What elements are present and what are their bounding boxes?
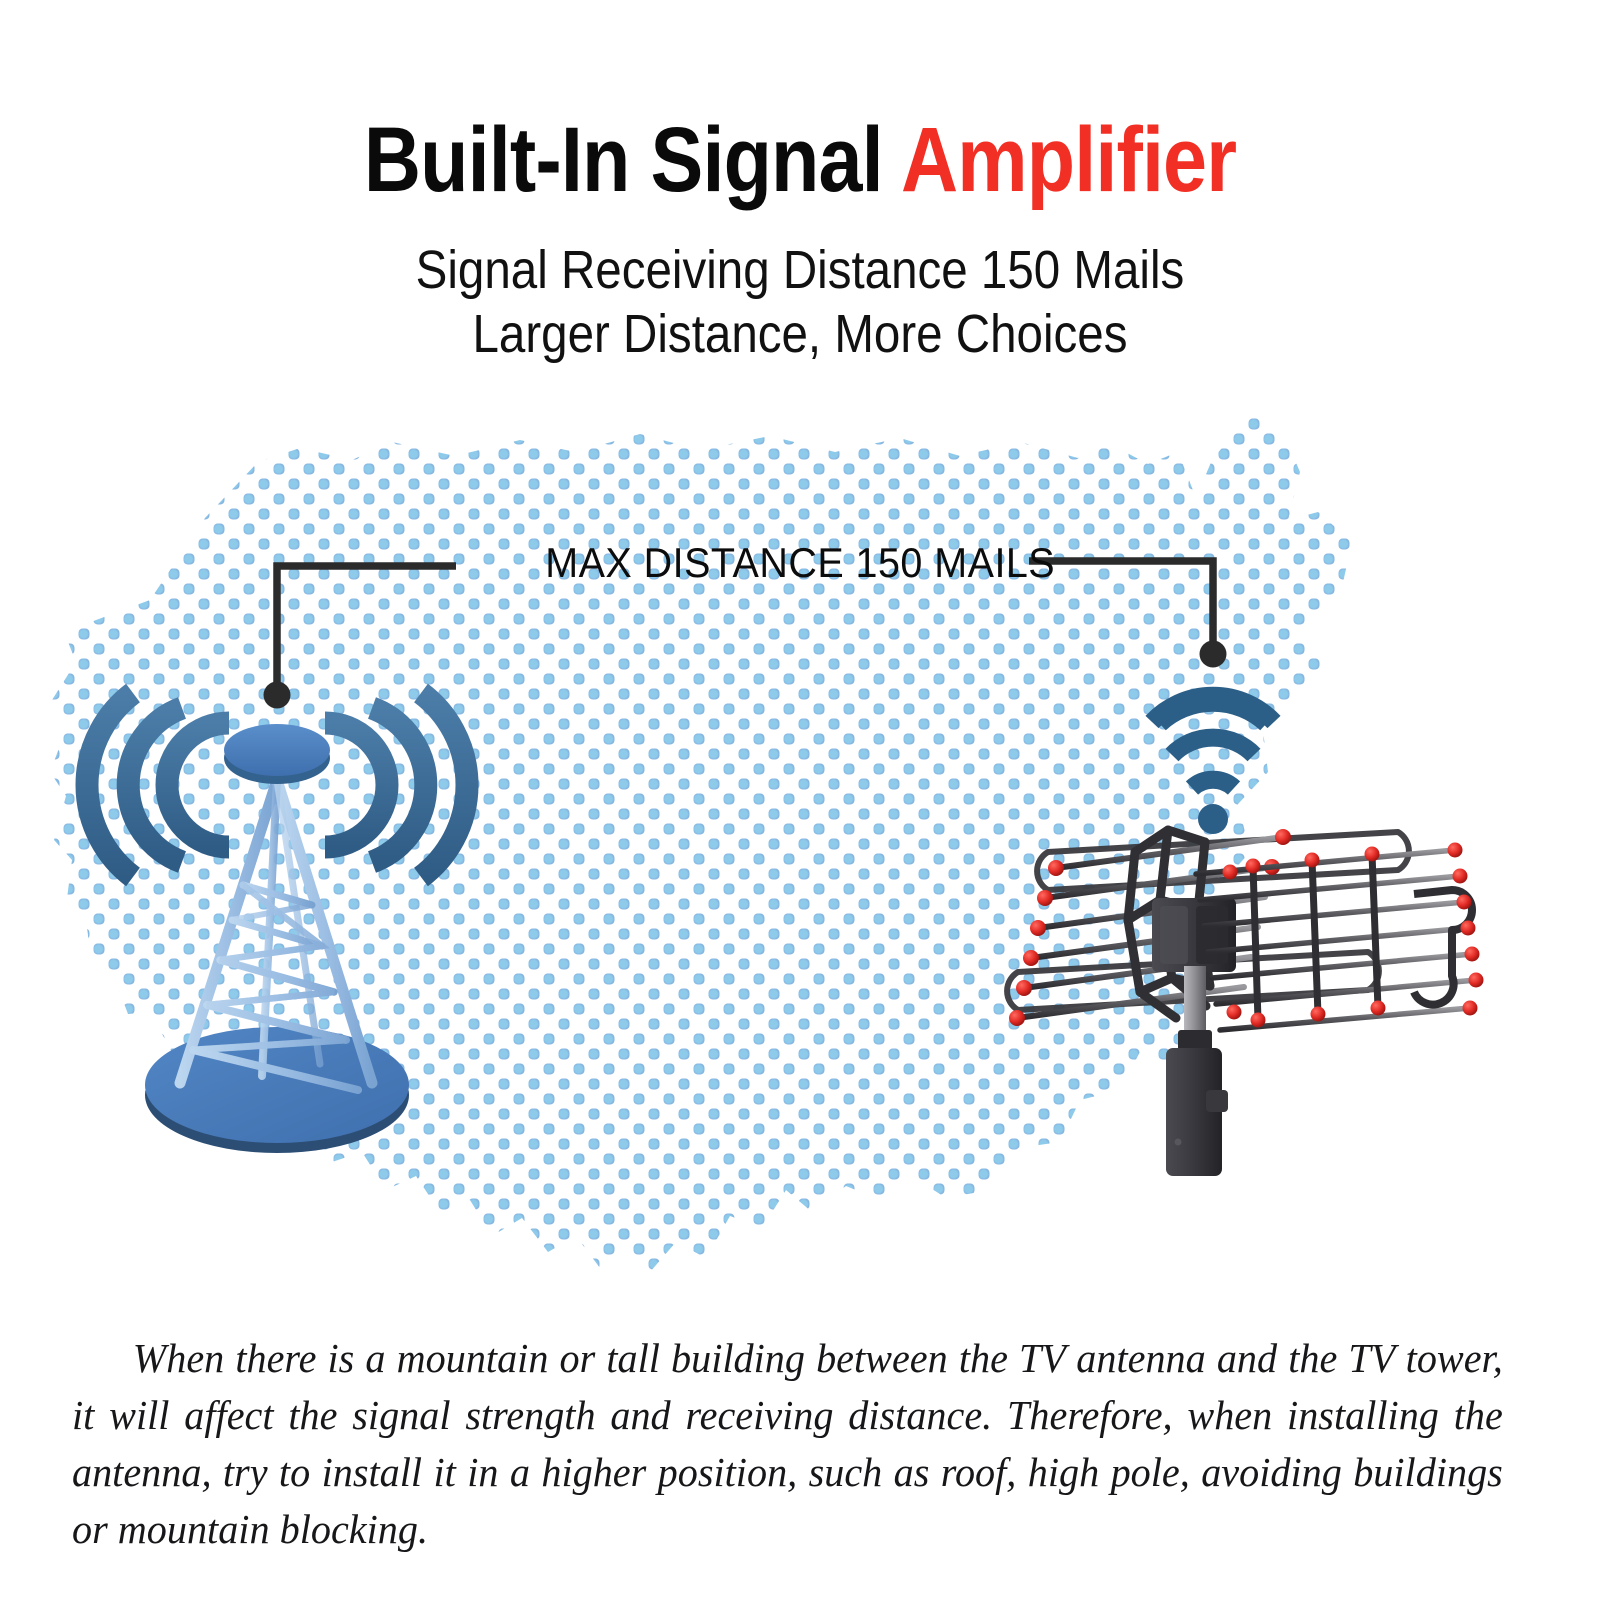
outdoor-tv-antenna — [0, 400, 1600, 1300]
illustration-stage: MAX DISTANCE 150 MAILS — [0, 400, 1600, 1300]
page-title: Built-In Signal Amplifier — [112, 108, 1488, 212]
description-paragraph: When there is a mountain or tall buildin… — [72, 1330, 1503, 1558]
antenna-driver-box — [1152, 898, 1236, 972]
infographic-page: Built-In Signal Amplifier Signal Receivi… — [0, 0, 1600, 1600]
subtitle-line-1: Signal Receiving Distance 150 Mails — [96, 238, 1504, 302]
subtitle-line-2: Larger Distance, More Choices — [96, 302, 1504, 366]
title-accent-text: Amplifier — [901, 109, 1236, 211]
subtitle-group: Signal Receiving Distance 150 Mails Larg… — [0, 238, 1600, 366]
header: Built-In Signal Amplifier Signal Receivi… — [0, 108, 1600, 366]
footer: When there is a mountain or tall buildin… — [72, 1330, 1532, 1558]
title-primary-text: Built-In Signal — [364, 109, 901, 211]
